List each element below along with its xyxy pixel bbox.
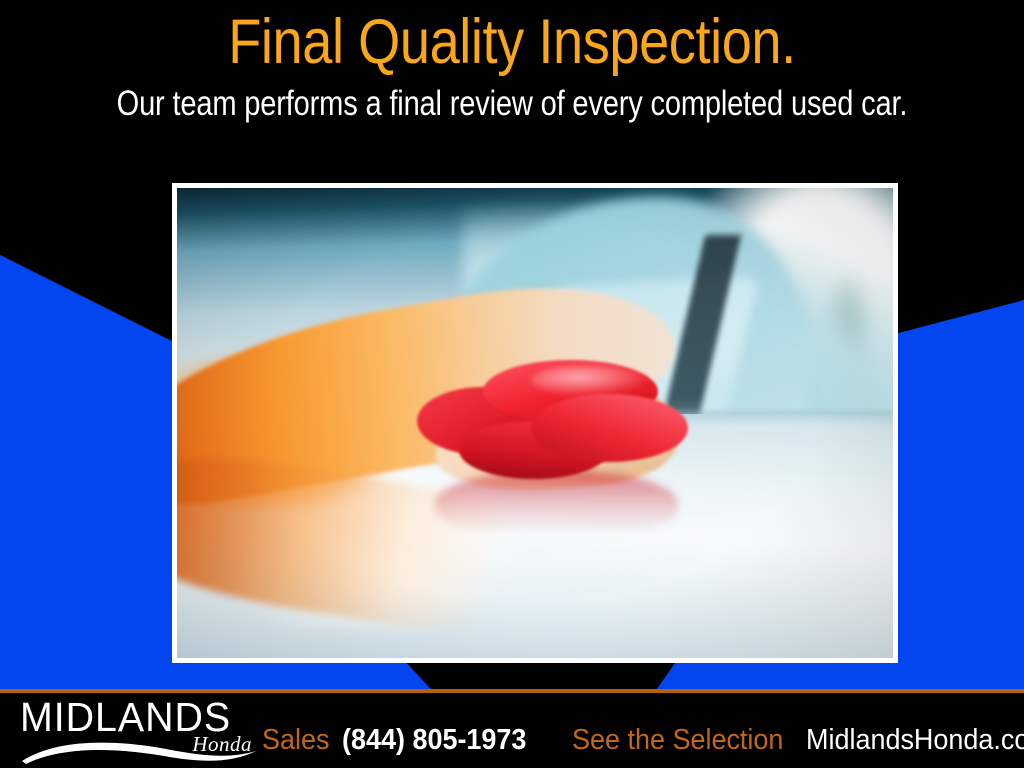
photo-vignette	[177, 188, 893, 658]
logo-swoosh-icon	[16, 737, 264, 765]
see-selection-label: See the Selection	[572, 723, 783, 757]
sales-label: Sales	[262, 723, 329, 757]
sales-phone-link[interactable]: (844) 805-1973	[342, 723, 526, 757]
page-subtitle: Our team performs a final review of ever…	[87, 84, 937, 124]
hero-photo	[177, 188, 893, 658]
website-link[interactable]: MidlandsHonda.com	[806, 723, 1024, 757]
header: Final Quality Inspection. Our team perfo…	[0, 0, 1024, 170]
hero-photo-frame	[172, 183, 898, 663]
page-title: Final Quality Inspection.	[72, 8, 953, 76]
footer-contact-line: Sales(844) 805-1973See the SelectionMidl…	[262, 723, 1024, 763]
promo-graphic: Final Quality Inspection. Our team perfo…	[0, 0, 1024, 768]
dealer-logo[interactable]: MIDLANDS Honda	[20, 695, 260, 765]
